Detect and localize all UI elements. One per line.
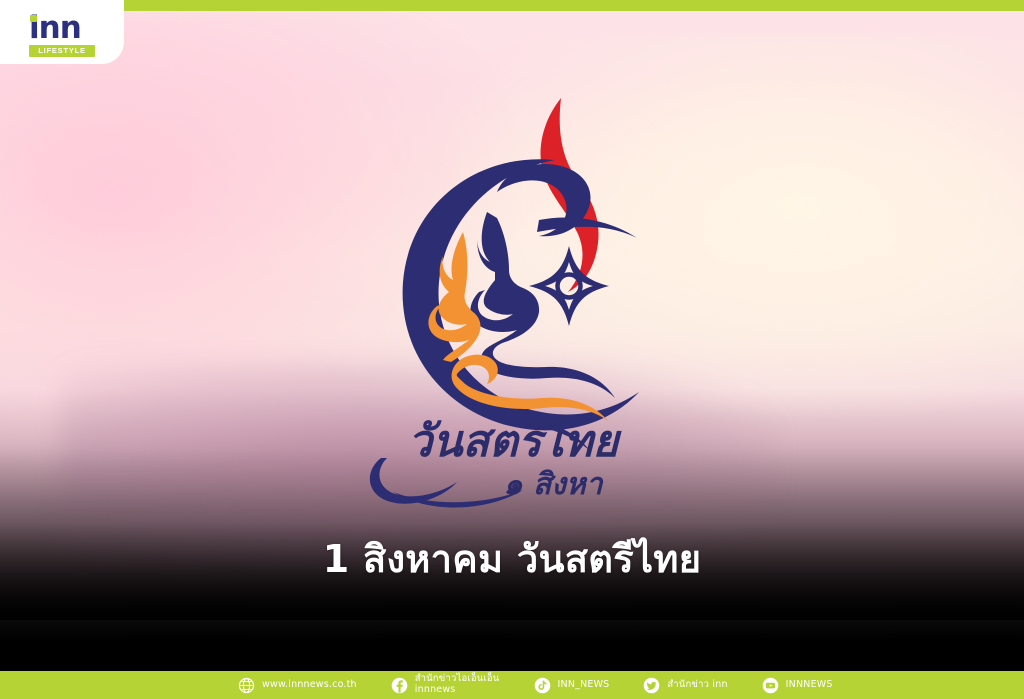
footer-item-youtube[interactable]: INNNEWS [762, 677, 833, 694]
emblem-script-line2: ๑ สิงหา [503, 467, 603, 502]
youtube-icon [762, 677, 779, 694]
diamond-star-icon [529, 246, 609, 326]
twitter-icon [643, 677, 660, 694]
thai-womens-day-emblem: วันสตรีไทย ๑ สิงหา [347, 86, 677, 516]
footer-item-facebook[interactable]: สำนักข่าวไอเอ็นเอ็น innnews [391, 674, 500, 695]
footer-youtube-label: INNNEWS [786, 680, 833, 691]
footer-tiktok-label: INN_NEWS [558, 680, 610, 691]
page-title: 1 สิงหาคม วันสตรีไทย [0, 537, 1024, 582]
tiktok-icon [534, 677, 551, 694]
brand-tagline: LIFESTYLE [29, 45, 95, 58]
facebook-icon [391, 677, 408, 694]
footer-item-website[interactable]: www.innnews.co.th [238, 677, 357, 694]
brand-i-dot-icon [30, 15, 37, 22]
footer-social-bar: www.innnews.co.th สำนักข่าวไอเอ็นเอ็น in… [0, 671, 1024, 699]
brand-logo-badge[interactable]: inn LIFESTYLE [0, 0, 124, 64]
brand-logo-inner: inn LIFESTYLE [29, 14, 95, 57]
footer-black-strip [0, 620, 1024, 671]
footer-facebook-label: สำนักข่าวไอเอ็นเอ็น innnews [415, 674, 500, 695]
brand-wordmark: inn [29, 14, 95, 43]
footer-item-twitter[interactable]: สำนักข่าว inn [643, 677, 727, 694]
globe-icon [238, 677, 255, 694]
top-accent-bar [0, 0, 1024, 11]
footer-website-label: www.innnews.co.th [262, 680, 357, 691]
footer-item-tiktok[interactable]: INN_NEWS [534, 677, 610, 694]
poster-canvas: inn LIFESTYLE [0, 0, 1024, 699]
footer-twitter-label: สำนักข่าว inn [667, 680, 727, 691]
emblem-script-line1: วันสตรีไทย [408, 415, 623, 467]
